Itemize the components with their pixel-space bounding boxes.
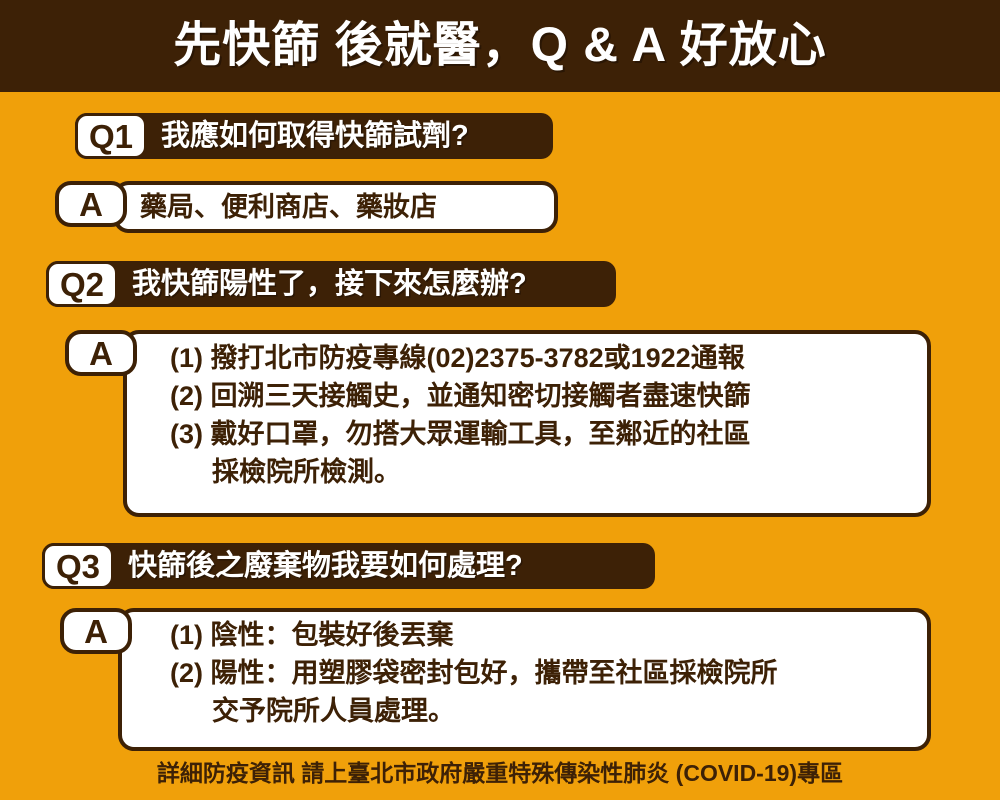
answer-line: (3) 戴好口罩，勿搭大眾運輸工具，至鄰近的社區 [170,415,751,453]
answer-line: 交予院所人員處理。 [170,692,778,730]
answer-line: (1) 陰性：包裝好後丟棄 [170,616,778,654]
answer-line: (2) 回溯三天接觸史，並通知密切接觸者盡速快篩 [170,377,751,415]
answer-line: (2) 陽性：用塑膠袋密封包好，攜帶至社區採檢院所 [170,654,778,692]
page-title: 先快篩 後就醫，Q & A 好放心 [173,22,826,70]
header-bar: 先快篩 後就醫，Q & A 好放心 [0,0,1000,92]
answer-text-a3: (1) 陰性：包裝好後丟棄 (2) 陽性：用塑膠袋密封包好，攜帶至社區採檢院所 … [170,616,778,730]
answer-line: (1) 撥打北市防疫專線(02)2375-3782或1922通報 [170,339,751,377]
answer-line: 藥局、便利商店、藥妝店 [140,188,437,226]
question-badge-q2: Q2 [46,261,118,307]
question-badge-q3: Q3 [42,543,114,589]
answer-badge-a2: A [65,330,137,376]
answer-line: 採檢院所檢測。 [170,453,751,491]
question-text-q1: 我應如何取得快篩試劑? [161,122,469,151]
question-row-q2: Q2 我快篩陽性了，接下來怎麼辦? [46,261,527,307]
answer-badge-a1: A [55,181,127,227]
footer-note: 詳細防疫資訊 請上臺北市政府嚴重特殊傳染性肺炎 (COVID-19)專區 [0,762,1000,785]
question-row-q3: Q3 快篩後之廢棄物我要如何處理? [42,543,523,589]
question-text-q2: 我快篩陽性了，接下來怎麼辦? [132,270,527,299]
question-row-q1: Q1 我應如何取得快篩試劑? [75,113,469,159]
question-badge-q1: Q1 [75,113,147,159]
answer-badge-a3: A [60,608,132,654]
question-text-q3: 快篩後之廢棄物我要如何處理? [128,552,523,581]
answer-text-a1: 藥局、便利商店、藥妝店 [140,188,437,226]
answer-text-a2: (1) 撥打北市防疫專線(02)2375-3782或1922通報 (2) 回溯三… [170,339,751,491]
